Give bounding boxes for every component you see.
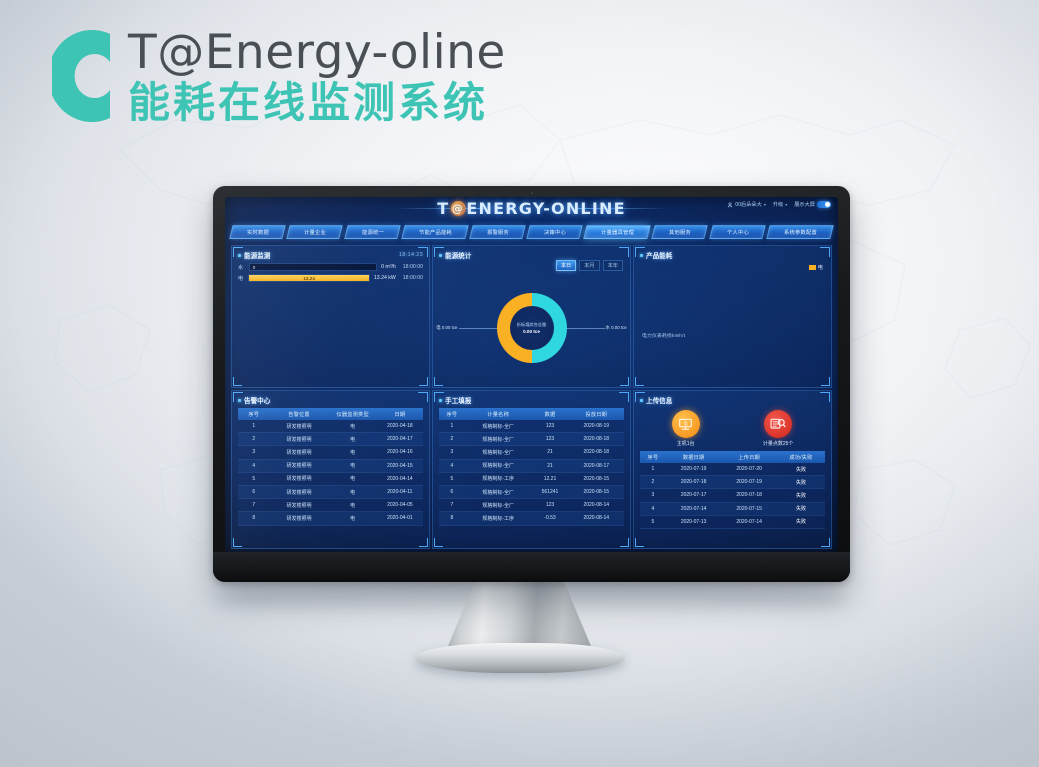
panel-alarm-center: 告警中心 序号告警位置仪器监测类型日期 1研发楼照明电2020-04-182研发… xyxy=(231,390,430,549)
server-icon: 电 xyxy=(672,410,700,438)
nav-button-label-0: 实时数据 xyxy=(247,228,269,236)
table-row[interactable]: 52020-07-132020-07-14失败 xyxy=(640,515,825,528)
alarm-cell-2-0: 3 xyxy=(238,446,269,459)
manual-cell-0-1: 规格制标-全厂 xyxy=(465,420,532,433)
alarm-cell-5-0: 6 xyxy=(238,485,269,498)
table-row[interactable]: 8规格制标-工序-0.532020-08-14 xyxy=(439,512,624,525)
upload-cell-3-0: 4 xyxy=(640,502,666,515)
nav-button-label-7: 其他服务 xyxy=(669,228,691,236)
manual-col-2: 数据 xyxy=(531,408,568,420)
upload-stat-host-caption: 主机1台 xyxy=(677,440,695,447)
nav-button-8[interactable]: 个人中心 xyxy=(709,225,766,239)
alarm-cell-0-1: 研发楼照明 xyxy=(269,420,328,433)
nav-button-9[interactable]: 系统参数配置 xyxy=(766,225,833,239)
product-energy-axis-note: 电力仪表耗损kWh/t xyxy=(642,332,685,339)
nav-button-1[interactable]: 计量企业 xyxy=(287,225,344,239)
panel-marker-icon xyxy=(238,254,241,257)
upload-cell-0-3: 失败 xyxy=(777,463,825,476)
upload-cell-4-3: 失败 xyxy=(777,515,825,528)
manual-cell-4-1: 规格制标-工序 xyxy=(465,472,532,485)
donut-center-value: 0.00 tce xyxy=(523,329,540,334)
manual-cell-4-0: 5 xyxy=(439,472,465,485)
table-row[interactable]: 1研发楼照明电2020-04-18 xyxy=(238,420,423,433)
poster-title-chinese: 能耗在线监测系统 xyxy=(128,82,506,124)
alarm-cell-0-2: 电 xyxy=(329,420,377,433)
panel-energy-statistics-title: 能源统计 xyxy=(445,250,471,260)
alarm-cell-0-3: 2020-04-18 xyxy=(377,420,423,433)
monitor-frame: T @ ENERGY-ONLINE 00后朵朵大 ▾ 升级 ▾ xyxy=(213,186,850,582)
manual-entry-table: 序号计量名称数据投放日期 1规格制标-全厂1232020-08-192规格制标-… xyxy=(439,408,624,526)
energy-row-bar-0: 0 xyxy=(249,263,377,271)
energy-monitor-clock: 18:14:23 xyxy=(399,252,423,258)
table-row[interactable]: 5研发楼照明电2020-04-14 xyxy=(238,472,423,485)
alarm-col-2: 仪器监测类型 xyxy=(329,408,377,420)
donut-leader-left xyxy=(459,328,497,329)
manual-cell-7-0: 8 xyxy=(439,512,465,525)
alarm-cell-6-3: 2020-04-05 xyxy=(377,499,423,512)
energy-row-time-1: 18:00:00 xyxy=(403,275,423,281)
table-row[interactable]: 7规格制标-全厂1232020-08-14 xyxy=(439,499,624,512)
legend-swatch-icon xyxy=(809,265,816,270)
alarm-cell-1-2: 电 xyxy=(329,433,377,446)
upload-col-3: 成功/失败 xyxy=(777,451,825,463)
alarm-cell-7-0: 8 xyxy=(238,512,269,525)
upload-cell-1-0: 2 xyxy=(640,476,666,489)
upload-cell-2-0: 3 xyxy=(640,489,666,502)
alarm-table-body: 1研发楼照明电2020-04-182研发楼照明电2020-04-173研发楼照明… xyxy=(238,420,423,525)
manual-cell-6-0: 7 xyxy=(439,499,465,512)
panel-alarm-center-title: 告警中心 xyxy=(244,395,270,405)
donut-center-label: 折标煤综合总量 xyxy=(517,322,546,328)
manual-cell-5-2: 561241 xyxy=(531,485,568,498)
alarm-cell-3-0: 4 xyxy=(238,459,269,472)
manual-cell-3-3: 2020-08-17 xyxy=(568,459,624,472)
manual-cell-7-2: -0.53 xyxy=(531,512,568,525)
upload-table-header: 序号数据日期上传日期成功/失败 xyxy=(640,451,825,463)
nav-button-label-2: 能源统一 xyxy=(361,228,383,236)
alarm-cell-2-1: 研发楼照明 xyxy=(269,446,328,459)
brand-text: ENERGY-ONLINE xyxy=(466,199,625,218)
poster-title-english: T@Energy-oline xyxy=(128,29,506,76)
panel-manual-entry-title: 手工填报 xyxy=(445,395,471,405)
webcam-icon xyxy=(529,191,534,196)
alarm-center-table: 序号告警位置仪器监测类型日期 1研发楼照明电2020-04-182研发楼照明电2… xyxy=(238,408,423,526)
manual-col-3: 投放日期 xyxy=(568,408,624,420)
panel-marker-icon-2 xyxy=(439,254,442,257)
nav-button-label-4: 报警服务 xyxy=(487,228,509,236)
manual-cell-2-3: 2020-08-18 xyxy=(568,446,624,459)
manual-cell-3-0: 4 xyxy=(439,459,465,472)
upload-cell-1-2: 2020-07-19 xyxy=(721,476,777,489)
nav-button-6[interactable]: 计量器具管理 xyxy=(584,225,651,239)
bigscreen-toggle[interactable] xyxy=(817,201,831,208)
alarm-cell-5-2: 电 xyxy=(329,485,377,498)
upload-stat-icons: 电 主机1台 xyxy=(640,410,825,447)
panel-energy-monitor-head: 能源监测 18:14:23 xyxy=(238,250,423,260)
alarm-cell-4-0: 5 xyxy=(238,472,269,485)
table-row[interactable]: 3研发楼照明电2020-04-16 xyxy=(238,446,423,459)
panel-energy-monitor-title: 能源监测 xyxy=(244,250,270,260)
document-search-icon xyxy=(764,410,792,438)
product-energy-legend: 电 xyxy=(809,264,823,271)
table-row[interactable]: 7研发楼照明电2020-04-05 xyxy=(238,499,423,512)
upload-cell-2-1: 2020-07-17 xyxy=(666,489,722,502)
energy-stats-tab-2[interactable]: 本年 xyxy=(603,260,623,271)
table-row[interactable]: 12020-07-192020-07-20失败 xyxy=(640,463,825,476)
manual-cell-7-1: 规格制标-工序 xyxy=(465,512,532,525)
manual-cell-3-1: 规格制标-全厂 xyxy=(465,459,532,472)
header-right-group: 00后朵朵大 ▾ 升级 ▾ 展示大屏 xyxy=(727,201,831,208)
main-navigation[interactable]: 实时数据计量企业能源统一节能产品能耗报警服务决策中心计量器具管理其他服务个人中心… xyxy=(231,225,832,241)
upload-cell-0-0: 1 xyxy=(640,463,666,476)
manual-cell-1-3: 2020-08-18 xyxy=(568,433,624,446)
energy-monitor-rows: 水00 m³/h18:00:00电13.2413.24 kW18:00:00 xyxy=(238,263,423,282)
panel-marker-icon-4 xyxy=(238,399,241,402)
energy-row-fill-1: 13.24 xyxy=(249,275,369,281)
dashboard-grid: 能源监测 18:14:23 水00 m³/h18:00:00电13.2413.2… xyxy=(231,245,832,549)
panel-energy-monitor: 能源监测 18:14:23 水00 m³/h18:00:00电13.2413.2… xyxy=(231,245,430,388)
dashboard-brand-title: T @ ENERGY-ONLINE xyxy=(437,199,625,218)
alarm-cell-3-1: 研发楼照明 xyxy=(269,459,328,472)
upload-cell-2-2: 2020-07-18 xyxy=(721,489,777,502)
manual-cell-4-3: 2020-08-15 xyxy=(568,472,624,485)
energy-row-value-0: 0 m³/h xyxy=(381,264,396,270)
upload-cell-4-2: 2020-07-14 xyxy=(721,515,777,528)
nav-button-2[interactable]: 能源统一 xyxy=(344,225,401,239)
upload-col-0: 序号 xyxy=(640,451,666,463)
brand-logo-icon xyxy=(52,24,114,128)
user-name-label: 00后朵朵大 xyxy=(735,201,762,208)
upload-stat-meters-caption: 计量点数25个 xyxy=(763,440,794,447)
energy-row-zero-0: 0 xyxy=(253,265,256,270)
alarm-cell-2-3: 2020-04-16 xyxy=(377,446,423,459)
user-icon xyxy=(727,202,733,208)
panel-manual-entry: 手工填报 序号计量名称数据投放日期 1规格制标-全厂1232020-08-192… xyxy=(432,390,631,549)
energy-stats-tab-1[interactable]: 本月 xyxy=(579,260,599,271)
user-menu[interactable]: 00后朵朵大 ▾ xyxy=(727,201,766,208)
panel-upload-info-title: 上传信息 xyxy=(646,395,672,405)
donut-center-text: 折标煤综合总量 0.00 tce xyxy=(497,293,567,363)
manual-table-body: 1规格制标-全厂1232020-08-192规格制标-全厂1232020-08-… xyxy=(439,420,624,525)
panel-marker-icon-5 xyxy=(439,399,442,402)
upload-cell-0-2: 2020-07-20 xyxy=(721,463,777,476)
manual-col-0: 序号 xyxy=(439,408,465,420)
alarm-cell-7-2: 电 xyxy=(329,512,377,525)
upload-cell-4-0: 5 xyxy=(640,515,666,528)
bigscreen-toggle-group[interactable]: 展示大屏 xyxy=(794,201,831,208)
nav-button-5[interactable]: 决策中心 xyxy=(526,225,583,239)
upload-cell-2-3: 失败 xyxy=(777,489,825,502)
manual-cell-6-2: 123 xyxy=(531,499,568,512)
panel-alarm-center-head: 告警中心 xyxy=(238,395,423,405)
alarm-col-0: 序号 xyxy=(238,408,269,420)
manual-cell-3-2: 21 xyxy=(531,459,568,472)
poster-title-block: T@Energy-oline 能耗在线监测系统 xyxy=(52,24,506,128)
panel-energy-statistics-head: 能源统计 xyxy=(439,250,624,260)
manual-cell-5-3: 2020-08-15 xyxy=(568,485,624,498)
energy-row-0: 水00 m³/h18:00:00 xyxy=(238,263,423,271)
table-row[interactable]: 22020-07-182020-07-19失败 xyxy=(640,476,825,489)
nav-button-7[interactable]: 其他服务 xyxy=(652,225,709,239)
panel-product-energy-title: 产品能耗 xyxy=(646,250,672,260)
brand-letter-t: T xyxy=(437,199,449,218)
table-row[interactable]: 42020-07-142020-07-15失败 xyxy=(640,502,825,515)
alarm-cell-5-3: 2020-04-11 xyxy=(377,485,423,498)
product-energy-legend-label: 电 xyxy=(818,264,823,271)
table-row[interactable]: 4规格制标-全厂212020-08-17 xyxy=(439,459,624,472)
nav-button-label-1: 计量企业 xyxy=(304,228,326,236)
manual-table-header: 序号计量名称数据投放日期 xyxy=(439,408,624,420)
manual-cell-5-0: 6 xyxy=(439,485,465,498)
table-row[interactable]: 3规格制标-全厂212020-08-18 xyxy=(439,446,624,459)
alarm-cell-6-1: 研发楼照明 xyxy=(269,499,328,512)
donut-ring: 折标煤综合总量 0.00 tce xyxy=(497,293,567,363)
panel-product-energy-head: 产品能耗 xyxy=(640,250,825,260)
upload-cell-4-1: 2020-07-13 xyxy=(666,515,722,528)
upload-cell-3-3: 失败 xyxy=(777,502,825,515)
alarm-cell-4-1: 研发楼照明 xyxy=(269,472,328,485)
energy-donut-chart: 电 0.00 tce 水 0.00 tce 折标煤综合总量 0.00 tce xyxy=(433,274,630,381)
table-row[interactable]: 2研发楼照明电2020-04-17 xyxy=(238,433,423,446)
manual-cell-0-0: 1 xyxy=(439,420,465,433)
monitor-bezel-bottom xyxy=(213,552,850,582)
alarm-cell-1-3: 2020-04-17 xyxy=(377,433,423,446)
table-row[interactable]: 8研发楼照明电2020-04-01 xyxy=(238,512,423,525)
alarm-cell-1-0: 2 xyxy=(238,433,269,446)
nav-button-3[interactable]: 节能产品能耗 xyxy=(401,225,468,239)
alarm-cell-6-2: 电 xyxy=(329,499,377,512)
energy-row-label-1: 电 xyxy=(238,275,244,282)
dashboard-header: T @ ENERGY-ONLINE 00后朵朵大 ▾ 升级 ▾ xyxy=(225,197,838,223)
manual-cell-1-1: 规格制标-全厂 xyxy=(465,433,532,446)
alarm-cell-3-3: 2020-04-15 xyxy=(377,459,423,472)
nav-button-label-3: 节能产品能耗 xyxy=(418,228,451,236)
svg-text:电: 电 xyxy=(683,419,688,426)
alarm-table-header: 序号告警位置仪器监测类型日期 xyxy=(238,408,423,420)
chevron-down-icon-2: ▾ xyxy=(785,202,787,207)
manual-cell-6-3: 2020-08-14 xyxy=(568,499,624,512)
upgrade-menu[interactable]: 升级 ▾ xyxy=(773,201,787,208)
upgrade-label: 升级 xyxy=(773,201,783,208)
upload-stat-host: 电 主机1台 xyxy=(672,410,700,447)
bigscreen-label: 展示大屏 xyxy=(794,201,815,208)
nav-button-label-6: 计量器具管理 xyxy=(601,228,634,236)
alarm-cell-7-3: 2020-04-01 xyxy=(377,512,423,525)
manual-cell-7-3: 2020-08-14 xyxy=(568,512,624,525)
energy-row-label-0: 水 xyxy=(238,264,245,271)
panel-manual-entry-head: 手工填报 xyxy=(439,395,624,405)
energy-stats-tab-0[interactable]: 本日 xyxy=(556,260,576,271)
manual-cell-2-1: 规格制标-全厂 xyxy=(465,446,532,459)
alarm-cell-0-0: 1 xyxy=(238,420,269,433)
nav-button-label-5: 决策中心 xyxy=(544,228,566,236)
donut-legend-left: 电 0.00 tce xyxy=(436,325,457,331)
table-row[interactable]: 5规格制标-工序12.212020-08-15 xyxy=(439,472,624,485)
nav-button-4[interactable]: 报警服务 xyxy=(469,225,526,239)
manual-cell-0-3: 2020-08-19 xyxy=(568,420,624,433)
manual-col-1: 计量名称 xyxy=(465,408,532,420)
upload-col-1: 数据日期 xyxy=(666,451,722,463)
table-row[interactable]: 6研发楼照明电2020-04-11 xyxy=(238,485,423,498)
panel-energy-statistics: 能源统计 本日本月本年 电 0.00 tce 水 0.00 tce 折标煤综合总… xyxy=(432,245,631,388)
alarm-cell-6-0: 7 xyxy=(238,499,269,512)
table-row[interactable]: 6规格制标-全厂5612412020-08-15 xyxy=(439,485,624,498)
manual-cell-2-0: 3 xyxy=(439,446,465,459)
energy-row-time-0: 18:00:00 xyxy=(403,264,423,270)
energy-row-value-1: 13.24 kW xyxy=(374,275,396,281)
panel-upload-info-head: 上传信息 xyxy=(640,395,825,405)
manual-cell-6-1: 规格制标-全厂 xyxy=(465,499,532,512)
monitor-screen: T @ ENERGY-ONLINE 00后朵朵大 ▾ 升级 ▾ xyxy=(225,197,838,552)
upload-col-2: 上传日期 xyxy=(721,451,777,463)
nav-button-0[interactable]: 实时数据 xyxy=(229,225,286,239)
alarm-cell-4-2: 电 xyxy=(329,472,377,485)
alarm-cell-4-3: 2020-04-14 xyxy=(377,472,423,485)
manual-cell-2-2: 21 xyxy=(531,446,568,459)
panel-marker-icon-6 xyxy=(640,399,643,402)
upload-info-table: 序号数据日期上传日期成功/失败 12020-07-192020-07-20失败2… xyxy=(640,451,825,529)
upload-cell-3-2: 2020-07-15 xyxy=(721,502,777,515)
manual-cell-1-0: 2 xyxy=(439,433,465,446)
alarm-cell-3-2: 电 xyxy=(329,459,377,472)
alarm-col-1: 告警位置 xyxy=(269,408,328,420)
donut-leader-right xyxy=(567,328,605,329)
manual-cell-1-2: 123 xyxy=(531,433,568,446)
upload-table-body: 12020-07-192020-07-20失败22020-07-182020-0… xyxy=(640,463,825,528)
panel-product-energy: 产品能耗 电 电力仪表耗损kWh/t xyxy=(633,245,832,388)
nav-button-label-8: 个人中心 xyxy=(726,228,748,236)
energy-stats-tabs[interactable]: 本日本月本年 xyxy=(556,260,623,271)
brand-at-icon: @ xyxy=(450,201,465,216)
alarm-cell-7-1: 研发楼照明 xyxy=(269,512,328,525)
table-row[interactable]: 32020-07-172020-07-18失败 xyxy=(640,489,825,502)
donut-legend-right: 水 0.00 tce xyxy=(606,325,627,331)
upload-cell-0-1: 2020-07-19 xyxy=(666,463,722,476)
alarm-col-3: 日期 xyxy=(377,408,423,420)
monitor-stand-base xyxy=(415,643,625,673)
panel-upload-info: 上传信息 电 主机1台 xyxy=(633,390,832,549)
energy-row-1: 电13.2413.24 kW18:00:00 xyxy=(238,274,423,282)
upload-stat-meters: 计量点数25个 xyxy=(763,410,794,447)
alarm-cell-5-1: 研发楼照明 xyxy=(269,485,328,498)
upload-cell-1-3: 失败 xyxy=(777,476,825,489)
nav-button-label-9: 系统参数配置 xyxy=(783,228,816,236)
table-row[interactable]: 1规格制标-全厂1232020-08-19 xyxy=(439,420,624,433)
table-row[interactable]: 4研发楼照明电2020-04-15 xyxy=(238,459,423,472)
energy-row-bar-1: 13.24 xyxy=(248,274,370,282)
manual-cell-4-2: 12.21 xyxy=(531,472,568,485)
upload-cell-1-1: 2020-07-18 xyxy=(666,476,722,489)
panel-marker-icon-3 xyxy=(640,254,643,257)
manual-cell-5-1: 规格制标-全厂 xyxy=(465,485,532,498)
upload-cell-3-1: 2020-07-14 xyxy=(666,502,722,515)
table-row[interactable]: 2规格制标-全厂1232020-08-18 xyxy=(439,433,624,446)
manual-cell-0-2: 123 xyxy=(531,420,568,433)
alarm-cell-2-2: 电 xyxy=(329,446,377,459)
chevron-down-icon: ▾ xyxy=(764,202,766,207)
alarm-cell-1-1: 研发楼照明 xyxy=(269,433,328,446)
